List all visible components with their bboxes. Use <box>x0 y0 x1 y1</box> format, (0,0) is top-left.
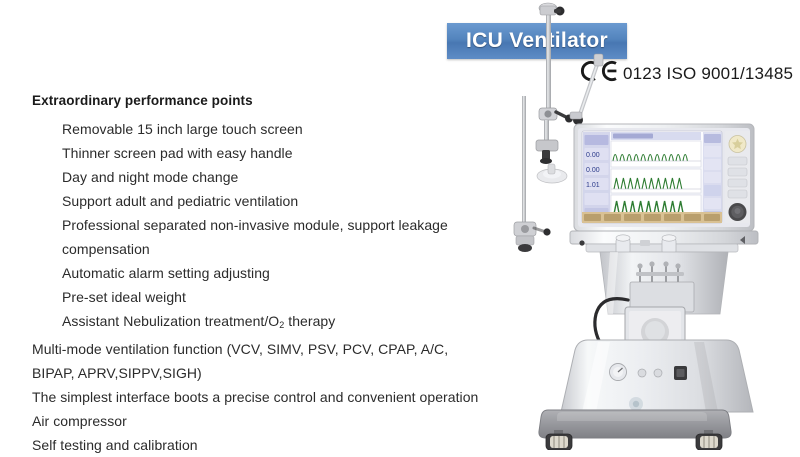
patient-circuit-elbow <box>537 164 567 183</box>
list-item-suffix: therapy <box>284 313 335 329</box>
list-item: Multi-mode ventilation function (VCV, SI… <box>32 337 482 361</box>
touch-screen-monitor: 0.00 0.00 1.01 <box>574 124 754 231</box>
list-item: Thinner screen pad with easy handle <box>32 141 482 165</box>
list-item: Self testing and calibration <box>32 433 482 457</box>
list-item-o2-therapy: Assistant Nebulization treatment/O2 ther… <box>32 309 482 337</box>
list-item: Pre-set ideal weight <box>32 285 482 309</box>
list-item: Air compressor <box>32 409 482 433</box>
list-item: The simplest interface boots a precise c… <box>32 385 482 409</box>
list-item: compensation <box>32 237 482 261</box>
list-item: Professional separated non-invasive modu… <box>32 213 482 237</box>
list-item: Day and night mode change <box>32 165 482 189</box>
feature-list: Removable 15 inch large touch screen Thi… <box>32 117 482 457</box>
arm-clamp <box>536 140 558 164</box>
connector-shelf <box>570 231 758 254</box>
arm-secondary-branch <box>570 54 603 125</box>
list-item: Support adult and pediatric ventilation <box>32 189 482 213</box>
list-item: Removable 15 inch large touch screen <box>32 117 482 141</box>
svg-text:0.00: 0.00 <box>586 167 600 174</box>
arm-top-joint <box>539 3 565 16</box>
features-section: Extraordinary performance points Removab… <box>32 93 482 457</box>
pole-clamp <box>514 222 551 252</box>
list-item: BIPAP, APRV,SIPPV,SIGH) <box>32 361 482 385</box>
features-heading: Extraordinary performance points <box>32 93 482 108</box>
screen-left-parameters: 0.00 0.00 1.01 <box>583 132 610 222</box>
circuit-port-left <box>616 235 630 254</box>
screen-right-parameters <box>703 132 722 222</box>
iv-pole <box>522 96 526 226</box>
svg-text:0.00: 0.00 <box>586 152 600 159</box>
list-item-prefix: Assistant Nebulization treatment/O <box>62 313 279 329</box>
svg-text:1.01: 1.01 <box>586 182 600 189</box>
list-item: Automatic alarm setting adjusting <box>32 261 482 285</box>
circuit-port-right <box>662 235 676 254</box>
wheeled-cart-base <box>561 340 753 412</box>
screen-waveform-area <box>611 141 701 217</box>
icu-ventilator-photo: 0.00 0.00 1.01 <box>470 0 800 450</box>
monitor-control-keys <box>725 131 750 223</box>
